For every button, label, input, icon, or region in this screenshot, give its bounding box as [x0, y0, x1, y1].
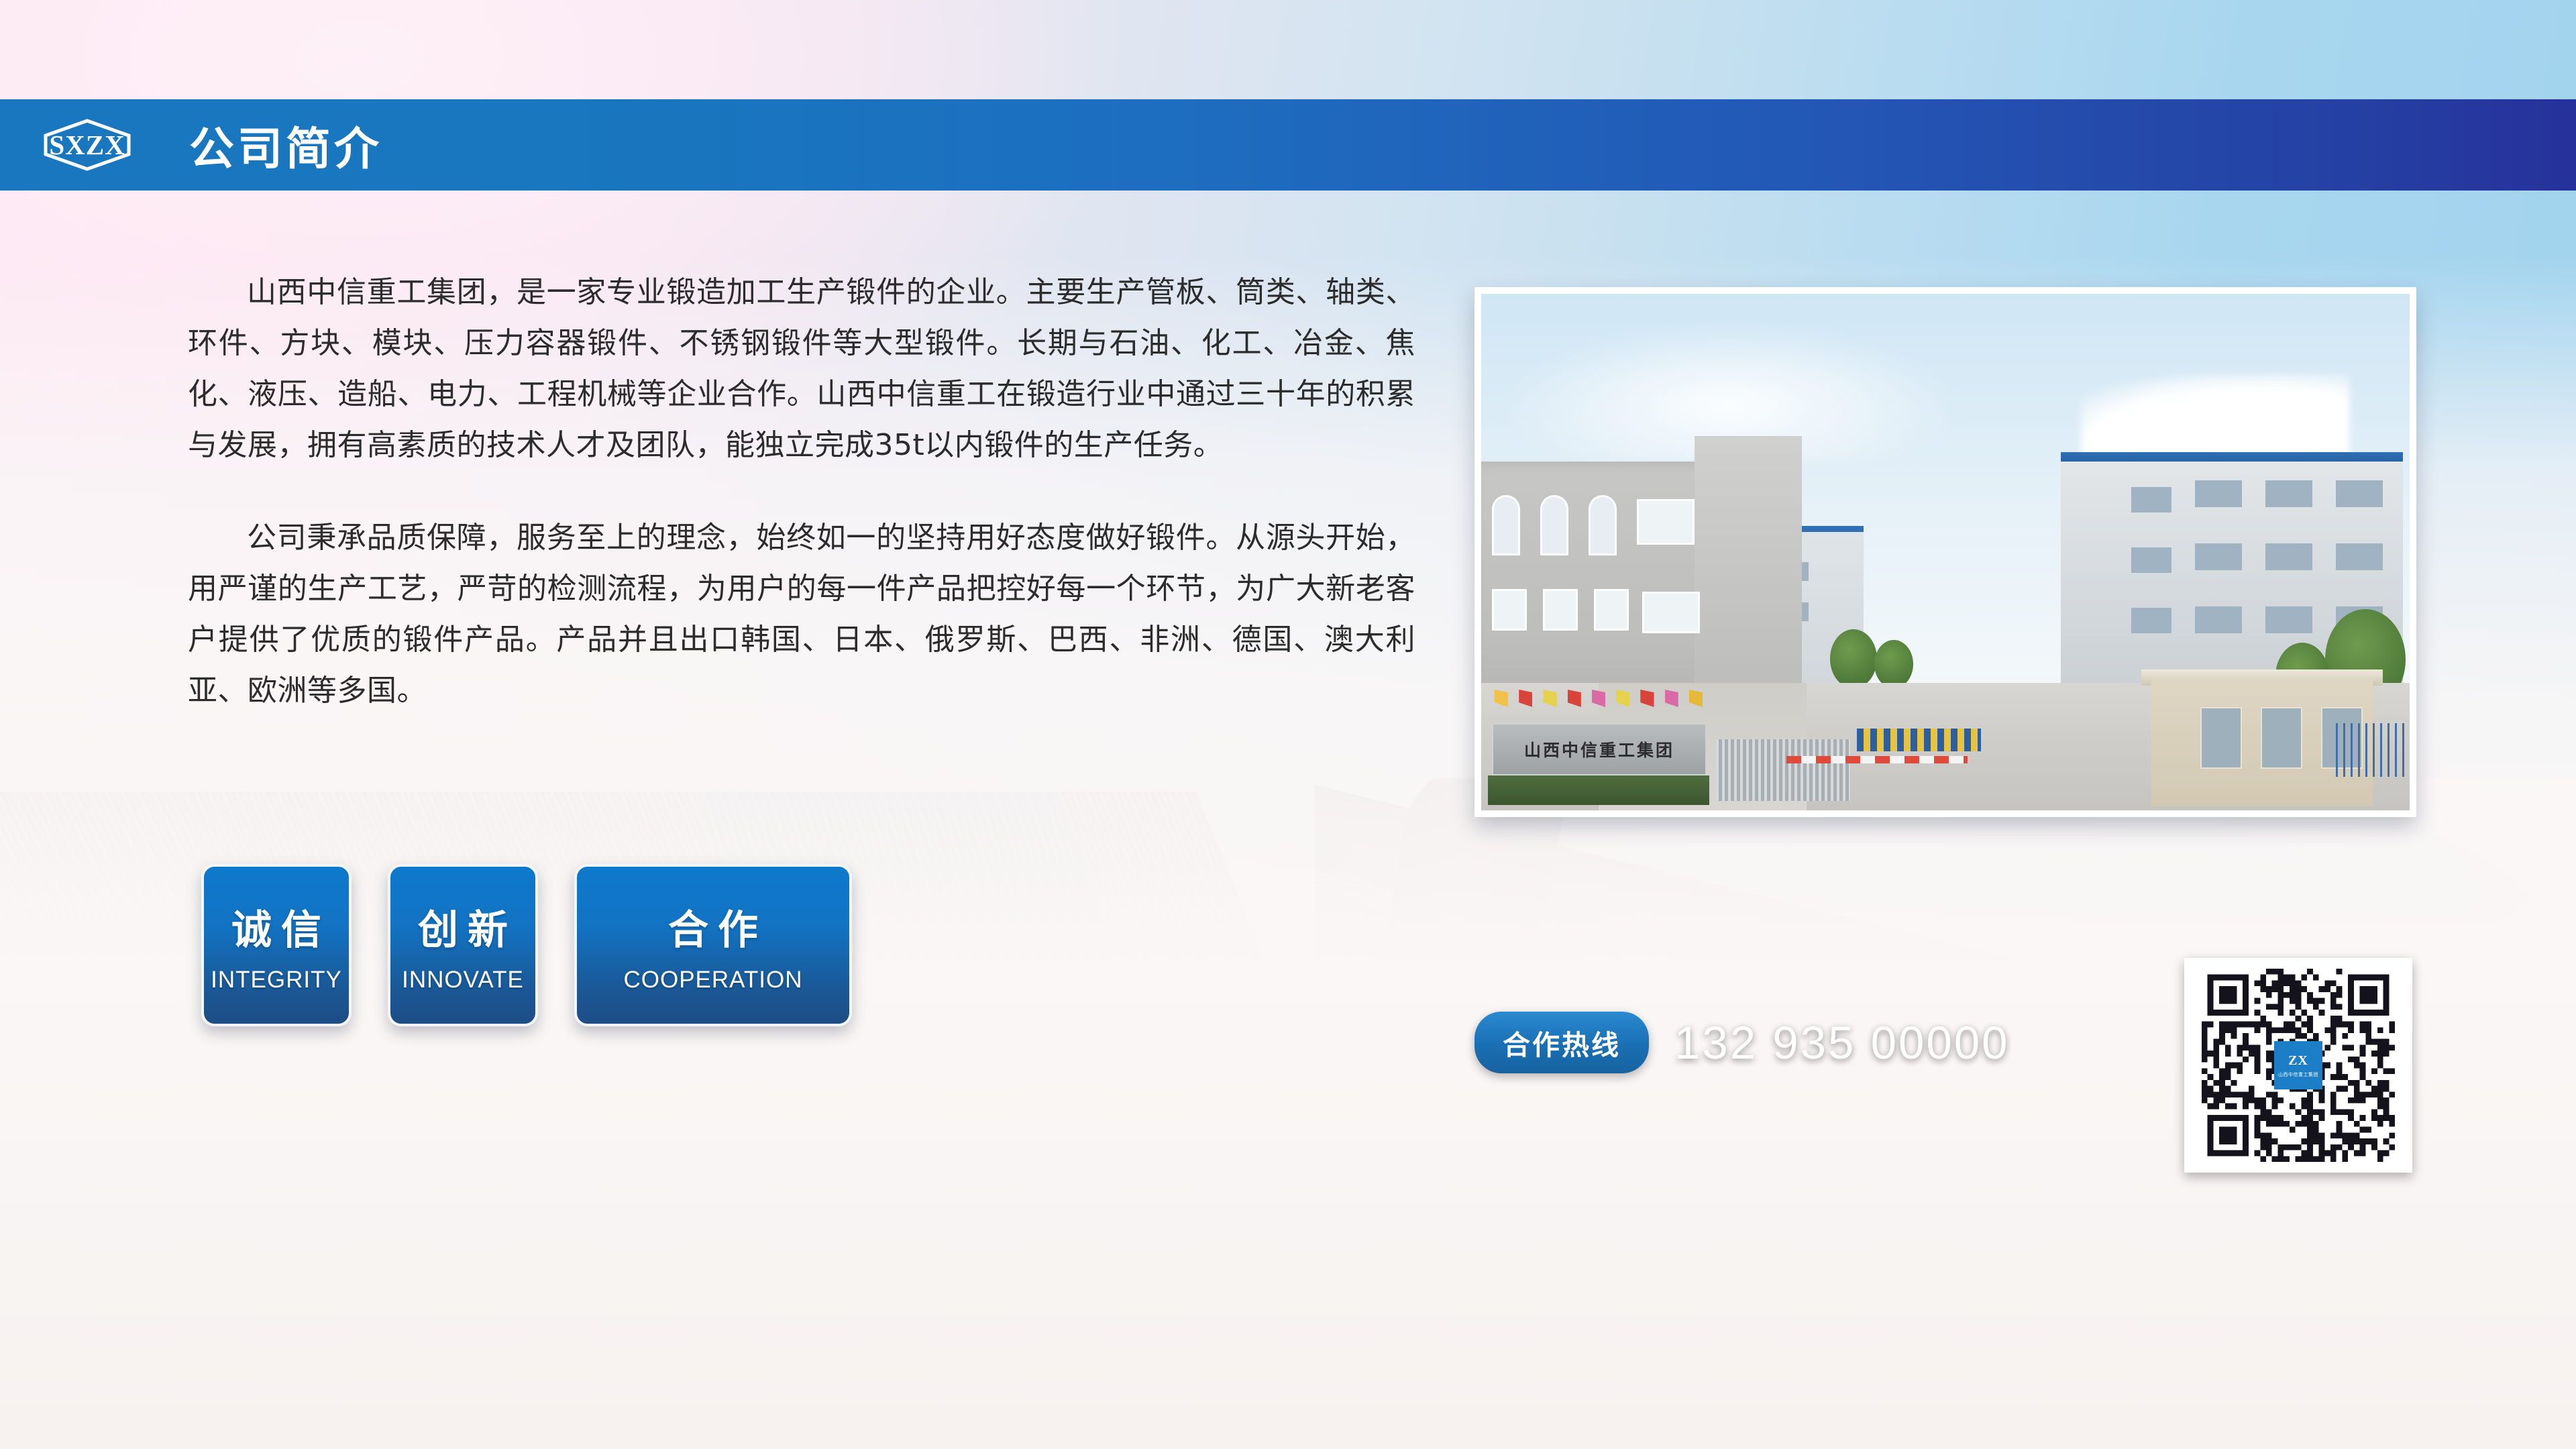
- photo-fence: [2336, 723, 2410, 777]
- qr-logo-mark: ZX: [2288, 1053, 2308, 1069]
- photo-sliding-gate: [1716, 739, 1850, 801]
- value-card-cn-label: 创新: [409, 898, 517, 956]
- photo-flag: [1495, 690, 1508, 707]
- photo-window: [2336, 480, 2383, 507]
- photo-window: [1637, 499, 1695, 545]
- intro-paragraph-2: 公司秉承品质保障，服务至上的理念，始终如一的坚持用好态度做好锻件。从源头开始，用…: [188, 513, 1415, 716]
- photo-tree: [1830, 629, 1877, 688]
- photo-window: [2131, 487, 2171, 513]
- hexagon-logo-icon: SXZX: [42, 118, 133, 172]
- photo-guardhouse-window: [2261, 707, 2302, 769]
- photo-arch-window: [1589, 495, 1617, 555]
- photo-arch-window: [1540, 495, 1568, 555]
- photo-flag: [1519, 690, 1532, 707]
- poster-stage: SXZX 公司简介 山西中信重工集团，是一家专业锻造加工生产锻件的企业。主要生产…: [0, 0, 2576, 1449]
- photo-window: [2265, 606, 2312, 633]
- photo-guardhouse-window: [2200, 707, 2242, 769]
- photo-window: [2336, 543, 2383, 570]
- value-card-innovate[interactable]: 创新 INNOVATE: [388, 864, 538, 1026]
- value-cards: 诚信 INTEGRITY 创新 INNOVATE 合作 COOPERATION: [201, 864, 852, 1026]
- value-card-en-label: COOPERATION: [623, 967, 802, 994]
- photo-arch-window: [1492, 495, 1520, 555]
- photo-flag: [1616, 690, 1629, 707]
- photo-window: [2195, 543, 2242, 570]
- photo-flag: [1543, 690, 1556, 707]
- photo-window: [1492, 589, 1527, 631]
- hotline-label-pill: 合作热线: [1474, 1012, 1649, 1073]
- photo-flag: [1665, 690, 1678, 707]
- photo-flag: [1689, 690, 1703, 707]
- photo-window: [2195, 480, 2242, 507]
- photo-hedge: [1488, 775, 1709, 805]
- qr-center-logo: ZX 山西中信重工集团: [2274, 1041, 2322, 1089]
- page-title: 公司简介: [189, 113, 382, 178]
- photo-window: [2265, 480, 2312, 507]
- photo-window: [2131, 547, 2171, 573]
- photo-tree: [1874, 640, 1913, 688]
- value-card-integrity[interactable]: 诚信 INTEGRITY: [201, 864, 352, 1026]
- value-card-cn-label: 诚信: [222, 898, 331, 956]
- photo-window: [1642, 592, 1700, 633]
- page-header-bar: SXZX 公司简介: [0, 99, 2576, 191]
- value-card-cooperation[interactable]: 合作 COOPERATION: [574, 864, 852, 1026]
- factory-entrance-photo-frame: 山西中信重工集团: [1474, 287, 2416, 817]
- company-intro-text: 山西中信重工集团，是一家专业锻造加工生产锻件的企业。主要生产管板、筒类、轴类、环…: [188, 267, 1415, 716]
- factory-entrance-photo: 山西中信重工集团: [1481, 294, 2410, 810]
- photo-boom-barrier: [1786, 756, 1968, 763]
- hotline-block: 合作热线 132 935 00000: [1474, 1012, 2009, 1073]
- photo-flag: [1640, 690, 1654, 707]
- photo-window: [1543, 589, 1578, 631]
- value-card-cn-label: 合作: [659, 898, 767, 956]
- hotline-number: 132 935 00000: [1674, 1016, 2009, 1069]
- wechat-qr-code[interactable]: ZX 山西中信重工集团: [2184, 958, 2412, 1173]
- value-card-en-label: INTEGRITY: [211, 967, 342, 994]
- photo-flag: [1592, 690, 1605, 707]
- intro-paragraph-1: 山西中信重工集团，是一家专业锻造加工生产锻件的企业。主要生产管板、筒类、轴类、环…: [188, 267, 1415, 471]
- photo-gate-sign: 山西中信重工集团: [1492, 723, 1707, 775]
- qr-logo-sub: 山西中信重工集团: [2278, 1071, 2318, 1078]
- logo-text: SXZX: [49, 129, 125, 161]
- photo-flag-row: [1495, 690, 1703, 718]
- photo-guardrail: [1857, 729, 1981, 751]
- qr-canvas: ZX 山西中信重工集团: [2195, 969, 2402, 1162]
- photo-flag: [1568, 690, 1581, 707]
- photo-window: [2265, 543, 2312, 570]
- photo-window: [1594, 589, 1629, 631]
- value-card-en-label: INNOVATE: [402, 967, 524, 994]
- photo-window: [2131, 608, 2171, 633]
- photo-window: [2195, 606, 2242, 633]
